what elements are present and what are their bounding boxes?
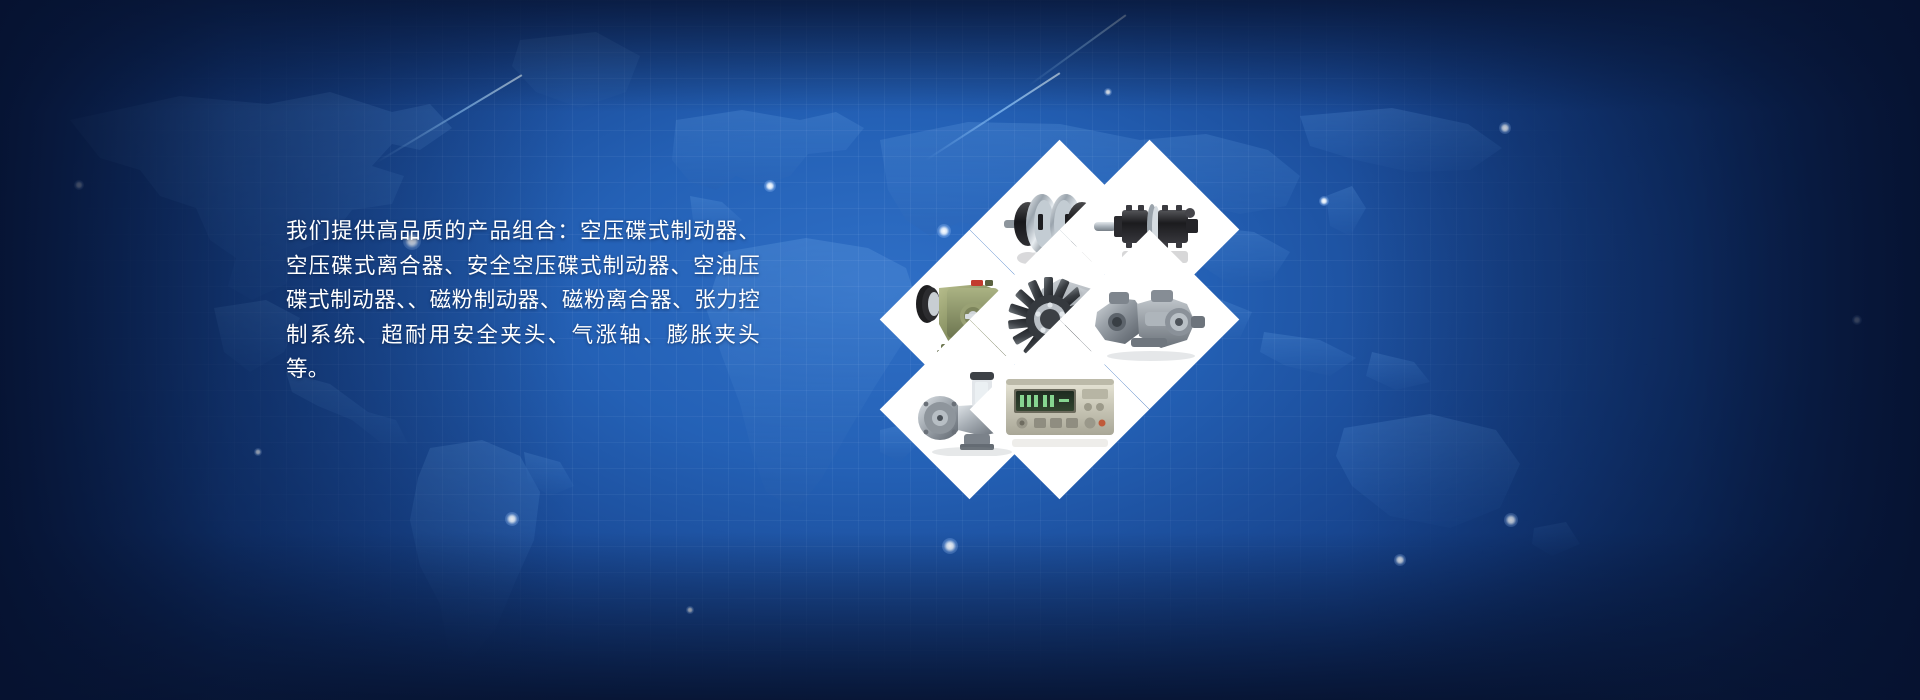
product-diamond-collage	[880, 140, 1252, 440]
hero-description: 我们提供高品质的产品组合：空压碟式制动器、空压碟式离合器、安全空压碟式制动器、空…	[286, 214, 760, 387]
hero-banner: 我们提供高品质的产品组合：空压碟式制动器、空压碟式离合器、安全空压碟式制动器、空…	[0, 0, 1920, 700]
tension-controller-panel-photo	[996, 346, 1123, 473]
hero-copy-block: 我们提供高品质的产品组合：空压碟式制动器、空压碟式离合器、安全空压碟式制动器、空…	[286, 214, 760, 387]
hydraulic-caliper-brake-photo	[1086, 256, 1213, 383]
